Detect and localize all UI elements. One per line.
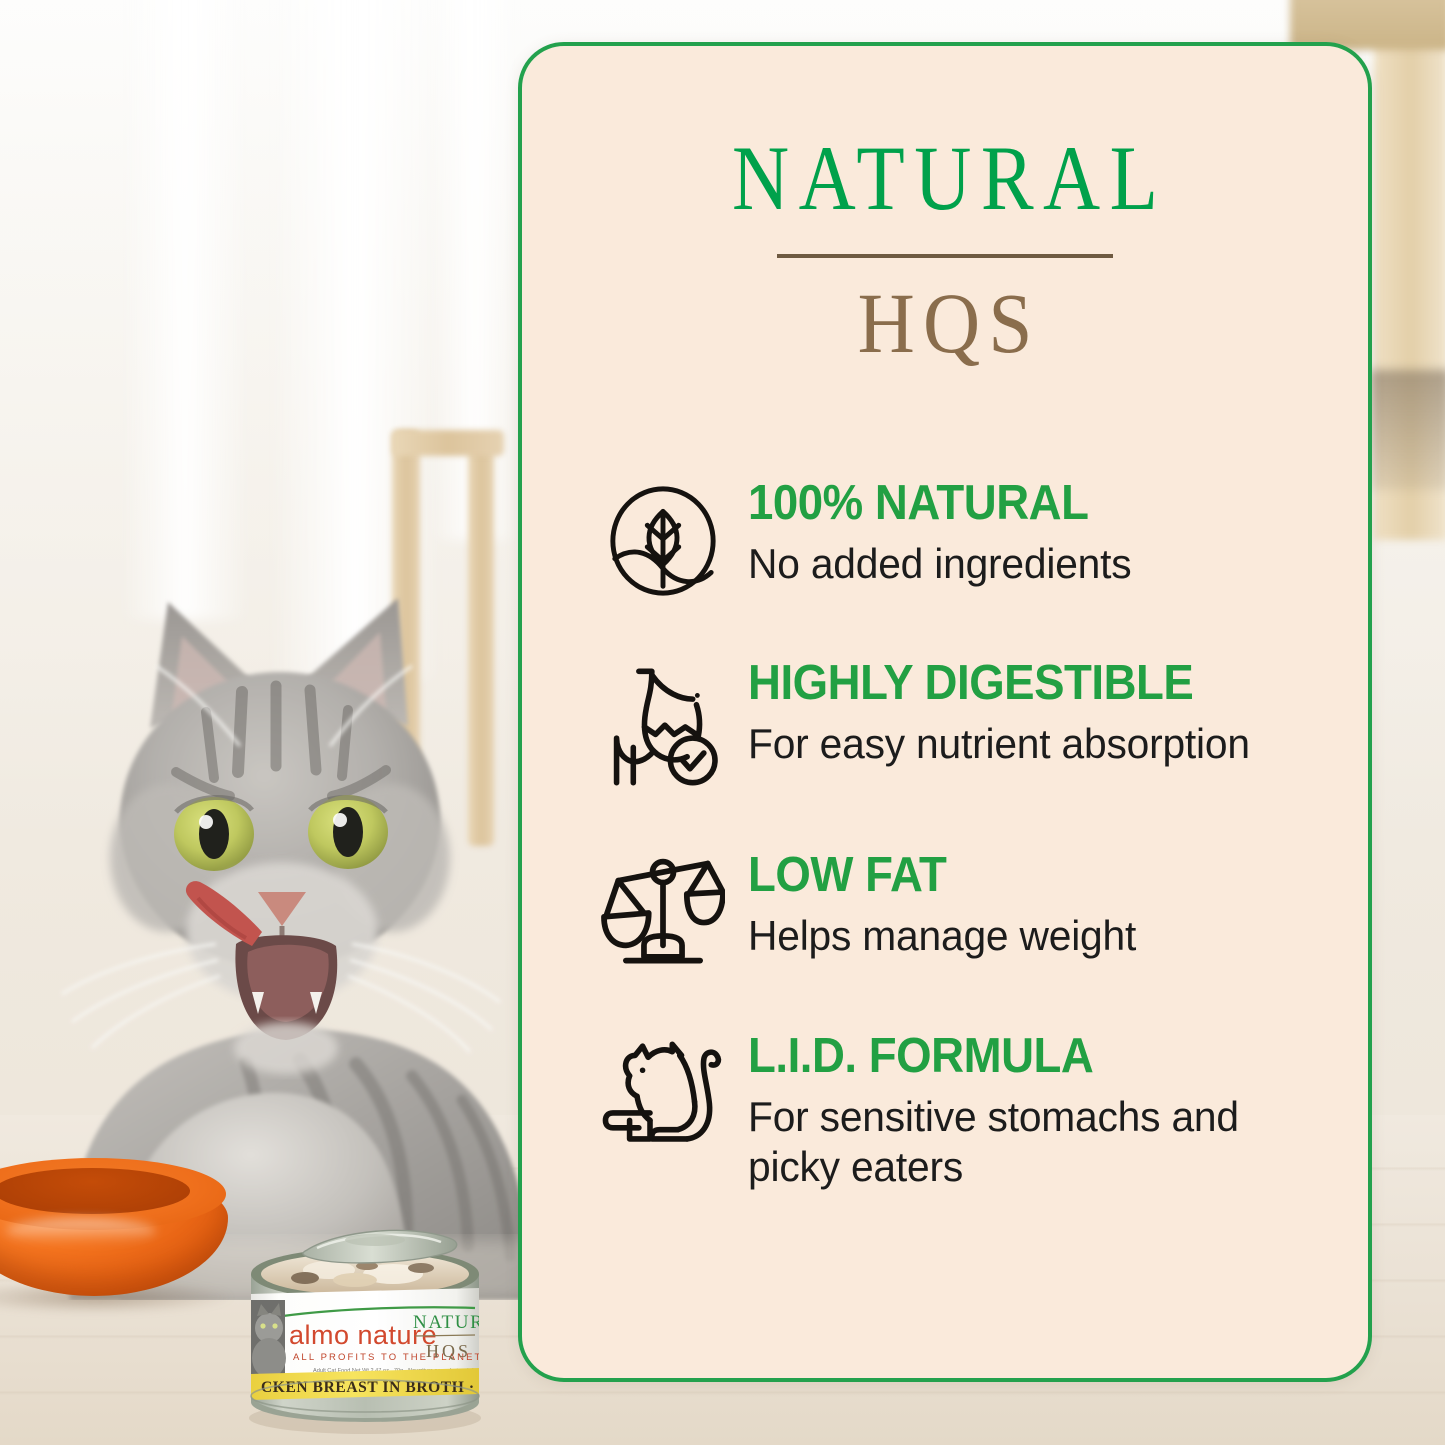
brand-header: NATURAL HQS [522,132,1368,366]
brand-natural-title: NATURAL [581,132,1309,224]
brand-divider [777,254,1113,258]
leaf-in-circle-icon [578,476,748,600]
feature-title: LOW FAT [748,850,1287,901]
right-shadow-area [1370,370,1445,490]
orange-cat-bowl [0,1152,260,1312]
benefits-card: NATURAL HQS [518,42,1372,1382]
feature-list: 100% NATURAL No added ingredients [578,476,1328,1193]
brand-hqs-subtitle: HQS [556,280,1334,366]
feature-item-lowfat: LOW FAT Helps manage weight [578,848,1328,973]
can-natural-text: NATURAL [413,1312,487,1333]
feature-text-natural: 100% NATURAL No added ingredients [748,476,1328,589]
feature-item-digestible: HIGHLY DIGESTIBLE For easy nutrient abso… [578,656,1328,792]
wooden-frame-top [392,430,504,456]
feature-text-lowfat: LOW FAT Helps manage weight [748,848,1328,961]
feature-title: HIGHLY DIGESTIBLE [748,658,1287,709]
bowl-highlight [6,1218,156,1244]
balance-scale-icon [578,848,748,973]
infographic-canvas: almo nature ALL PROFITS TO THE PLANET NA… [0,0,1445,1445]
feature-item-lid: L.I.D. FORMULA For sensitive stomachs an… [578,1029,1328,1193]
feature-description: No added ingredients [748,539,1311,589]
bowl-interior [0,1168,190,1214]
wall-panel [120,0,250,620]
feature-title: L.I.D. FORMULA [748,1031,1287,1082]
sitting-cat-icon [578,1029,748,1151]
feature-item-natural: 100% NATURAL No added ingredients [578,476,1328,600]
can-flavor-text: CKEN BREAST IN BROTH · BLANC DE POULET A… [261,1379,487,1396]
stomach-check-icon [578,656,748,792]
feature-description: For easy nutrient absorption [748,719,1311,769]
can-hqs-text: HQS [426,1341,471,1361]
feature-description: For sensitive stomachs and picky eaters [748,1092,1311,1193]
feature-description: Helps manage weight [748,911,1311,961]
feature-title: 100% NATURAL [748,478,1287,529]
feature-text-lid: L.I.D. FORMULA For sensitive stomachs an… [748,1029,1328,1193]
feature-text-digestible: HIGHLY DIGESTIBLE For easy nutrient abso… [748,656,1328,769]
almo-nature-can: almo nature ALL PROFITS TO THE PLANET NA… [243,1196,487,1445]
